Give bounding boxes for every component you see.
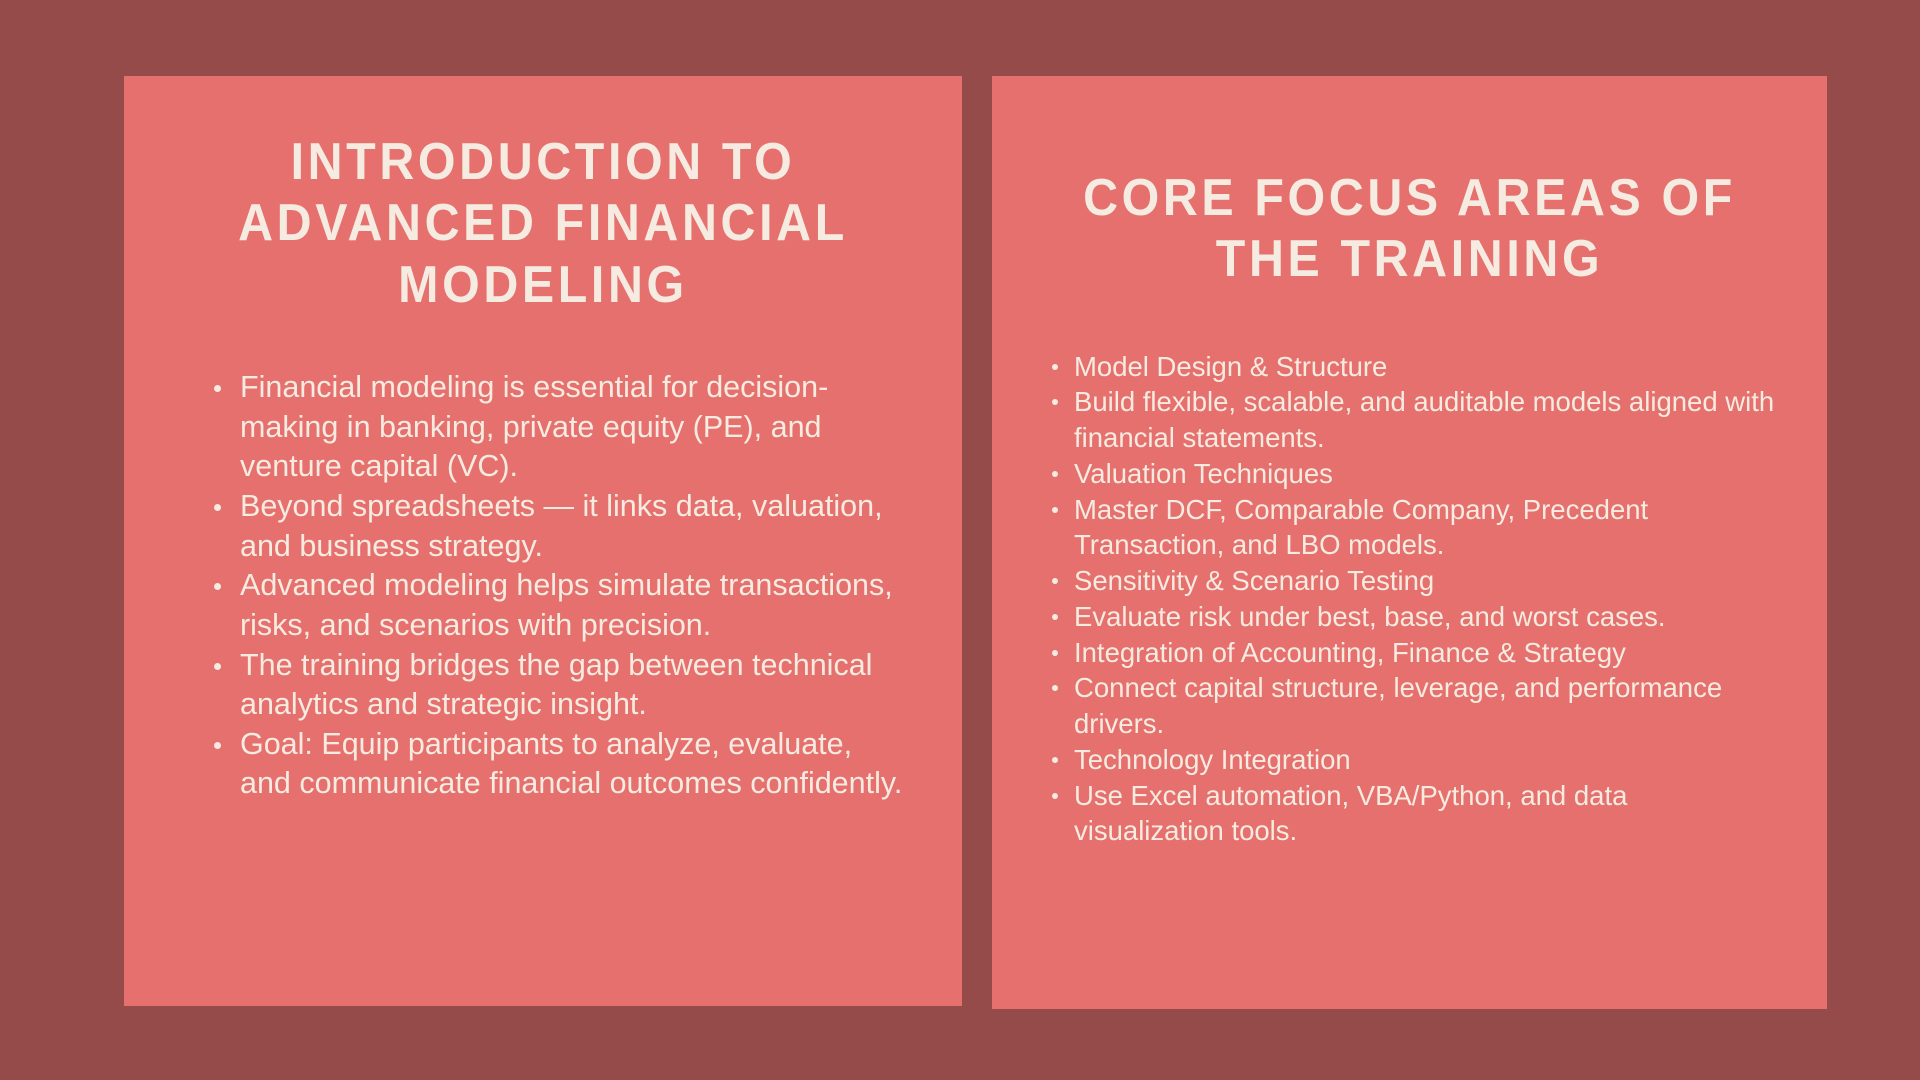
slide-canvas: INTRODUCTION TO ADVANCED FINANCIAL MODEL…	[0, 0, 1920, 1080]
list-item: Model Design & Structure	[1048, 349, 1783, 385]
list-item: Goal: Equip participants to analyze, eva…	[210, 725, 910, 804]
list-item: Financial modeling is essential for deci…	[210, 368, 910, 487]
panel-core-focus: CORE FOCUS AREAS OF THE TRAINING Model D…	[992, 76, 1827, 1009]
list-item: Use Excel automation, VBA/Python, and da…	[1048, 778, 1783, 850]
list-item: Master DCF, Comparable Company, Preceden…	[1048, 492, 1783, 564]
panel-core-focus-title: CORE FOCUS AREAS OF THE TRAINING	[1075, 168, 1744, 291]
panel-introduction-title: INTRODUCTION TO ADVANCED FINANCIAL MODEL…	[207, 132, 878, 316]
list-item: Technology Integration	[1048, 742, 1783, 778]
panel-core-focus-bullet-list: Model Design & Structure Build flexible,…	[1020, 349, 1799, 850]
list-item: Sensitivity & Scenario Testing	[1048, 563, 1783, 599]
panel-introduction-bullet-list: Financial modeling is essential for deci…	[152, 368, 934, 804]
list-item: The training bridges the gap between tec…	[210, 646, 910, 725]
list-item: Beyond spreadsheets — it links data, val…	[210, 487, 910, 566]
list-item: Build flexible, scalable, and auditable …	[1048, 384, 1783, 456]
panel-introduction: INTRODUCTION TO ADVANCED FINANCIAL MODEL…	[124, 76, 962, 1006]
list-item: Integration of Accounting, Finance & Str…	[1048, 635, 1783, 671]
list-item: Valuation Techniques	[1048, 456, 1783, 492]
list-item: Advanced modeling helps simulate transac…	[210, 566, 910, 645]
list-item: Evaluate risk under best, base, and wors…	[1048, 599, 1783, 635]
list-item: Connect capital structure, leverage, and…	[1048, 670, 1783, 742]
